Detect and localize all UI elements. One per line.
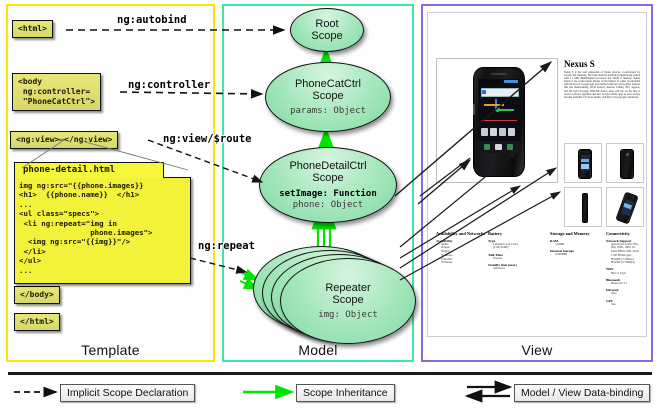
root-scope-line1: Root <box>315 18 338 31</box>
thumbnail-angle[interactable] <box>606 187 644 227</box>
legend-data-binding: Model / View Data-binding <box>514 384 650 402</box>
product-title: Nexus S <box>564 59 595 69</box>
ng-repeat-label: ng:repeat <box>198 240 255 252</box>
diagram-root: Template Model View <box>0 0 660 420</box>
panel-label-view: View <box>423 342 651 358</box>
repeater-scope-line2: Scope <box>332 294 363 307</box>
spec-value: (1500 mAH) <box>488 246 548 250</box>
phonedetailctrl-scope-line1: PhoneDetailCtrl <box>289 160 366 173</box>
tag-ng-view: <ng:view>▭</ng:view> <box>10 131 118 149</box>
spec-column-battery: Battery Type Lithium Ion (Li-Ion) (1500 … <box>488 231 548 271</box>
spec-value: HSUPA (5.76Mbps) <box>606 261 652 265</box>
thumbnail-back[interactable] <box>606 143 644 183</box>
spec-heading-battery: Battery <box>488 231 548 236</box>
phonedetailctrl-scope: PhoneDetailCtrl Scope setImage: Function… <box>259 147 397 223</box>
spec-value: false <box>606 292 652 296</box>
hero-phone-image <box>473 67 525 177</box>
spec-column-availability: Availability and Networks Availability A… <box>436 231 486 265</box>
specs-table: Availability and Networks Availability A… <box>436 231 642 326</box>
spec-heading-availability: Availability and Networks <box>436 231 486 236</box>
phonedetailctrl-scope-prop-phone: phone: Object <box>293 200 363 211</box>
spec-value: 16384MB <box>550 253 604 257</box>
spec-value: Vodafone <box>436 261 486 265</box>
phonecatctrl-scope-line1: PhoneCatCtrl <box>295 78 361 91</box>
spec-value: true <box>606 303 652 307</box>
root-scope-line2: Scope <box>311 30 342 43</box>
legend-divider <box>8 372 652 375</box>
phonedetailctrl-scope-prop-setimage: setImage: Function <box>279 189 377 200</box>
template-sticky-note: phone-detail.html img ng:src="{{phone.im… <box>14 162 192 302</box>
sticky-note-title: phone-detail.html <box>14 162 164 178</box>
ng-autobind-label: ng:autobind <box>117 14 187 26</box>
phonecatctrl-scope: PhoneCatCtrl Scope params: Object <box>265 62 391 132</box>
panel-label-model: Model <box>224 342 412 358</box>
repeater-scope-prop-img: img: Object <box>318 310 378 321</box>
ng-view-route-label: ng:view/$route <box>163 133 252 145</box>
phonedetailctrl-scope-line2: Scope <box>312 172 343 185</box>
view-rendered-page: Nexus S Nexus S is the next generation o… <box>427 12 647 337</box>
tag-html-open: <html> <box>12 20 53 38</box>
spec-value: 512MB <box>550 243 604 247</box>
spec-value: 802.11 b/g/n <box>606 272 652 276</box>
spec-value: Bluetooth 2.1 <box>606 282 652 286</box>
spec-value: 428 hours <box>488 267 548 271</box>
product-description: Nexus S is the next generation of Nexus … <box>564 71 640 99</box>
spec-heading-connectivity: Connectivity <box>606 231 652 236</box>
thumbnail-front[interactable] <box>564 143 602 183</box>
spec-column-storage: Storage and Memory RAM 512MB Internal St… <box>550 231 604 257</box>
ng-controller-label: ng:controller <box>128 79 210 91</box>
legend-scope-inheritance: Scope Inheritance <box>296 384 395 402</box>
tag-html-close: </html> <box>14 313 60 331</box>
thumbnail-side[interactable] <box>564 187 602 227</box>
spec-heading-storage: Storage and Memory <box>550 231 604 236</box>
tag-body-open: <body ng:controller= "PhoneCatCtrl"> <box>12 73 101 111</box>
spec-column-connectivity: Connectivity Network Support Quad-band G… <box>606 231 652 307</box>
panel-label-template: Template <box>8 342 213 358</box>
repeater-scope-line1: Repeater <box>325 282 370 295</box>
phonecatctrl-scope-line2: Scope <box>312 90 343 103</box>
phonecatctrl-scope-prop-params: params: Object <box>290 106 366 117</box>
sticky-note-code: img ng:src="{{phone.images}} <h1> {{phon… <box>14 177 191 284</box>
repeater-scope: Repeater Scope img: Object <box>280 258 416 344</box>
spec-value: 6 hours <box>488 257 548 261</box>
hero-image-frame <box>436 58 558 183</box>
legend-implicit-scope-declaration: Implicit Scope Declaration <box>60 384 195 402</box>
root-scope: Root Scope <box>290 8 364 52</box>
